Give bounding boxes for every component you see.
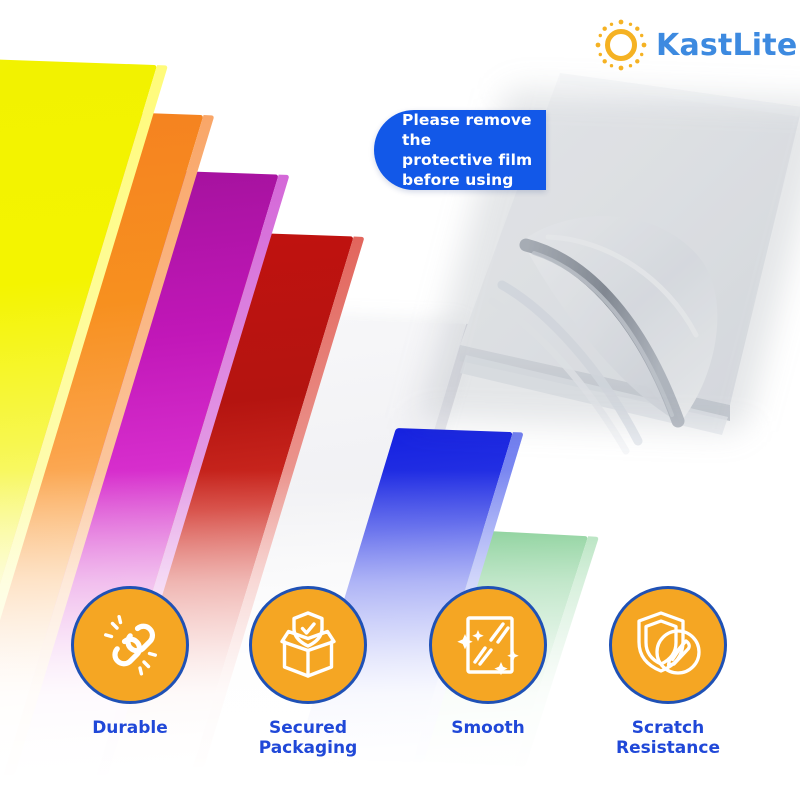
feature-label: Smooth [398, 718, 578, 738]
chain-link-icon [93, 608, 167, 682]
feature-scratch-resistance[interactable]: Scratch Resistance [578, 586, 758, 758]
feature-secured-packaging[interactable]: Secured Packaging [218, 586, 398, 758]
feature-durable[interactable]: Durable [40, 586, 220, 738]
callout-text: Please remove the protective film before… [374, 110, 546, 191]
feature-label: Secured Packaging [218, 718, 398, 758]
sparkle-panel-icon [451, 608, 525, 682]
feature-smooth[interactable]: Smooth [398, 586, 578, 738]
shield-box-icon [270, 607, 346, 683]
feature-icon-circle [429, 586, 547, 704]
feature-label: Durable [40, 718, 220, 738]
product-marketing-image: KastLite Please remove the protective fi… [0, 0, 800, 800]
feature-icon-circle [249, 586, 367, 704]
sun-icon [592, 16, 650, 74]
feature-label: Scratch Resistance [578, 718, 758, 758]
shield-blade-icon [630, 607, 706, 683]
brand-name: KastLite [656, 28, 797, 63]
protective-film-callout: Please remove the protective film before… [374, 110, 546, 190]
feature-icon-circle [71, 586, 189, 704]
feature-icon-circle [609, 586, 727, 704]
feature-row: Durable Secured Packaging [0, 586, 800, 786]
brand-logo: KastLite [592, 16, 792, 74]
